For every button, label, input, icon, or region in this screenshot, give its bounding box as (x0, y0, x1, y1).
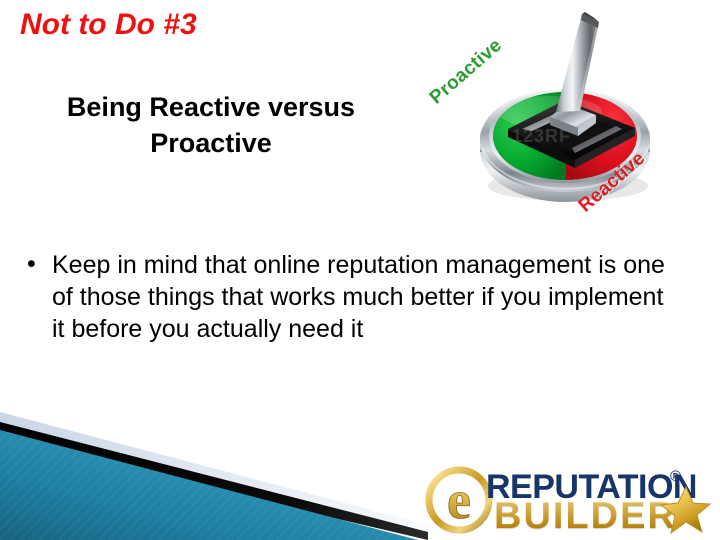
toggle-switch-icon (430, 8, 700, 223)
bullet-text: Keep in mind that online reputation mana… (52, 251, 665, 343)
star-icon (656, 484, 712, 536)
logo-word-builder: BUILDER (494, 495, 677, 538)
slide-subtitle: Being Reactive versus Proactive (26, 90, 396, 162)
slide-title: Not to Do #3 (20, 8, 197, 42)
svg-text:e: e (447, 470, 471, 530)
ereputation-builder-logo: e REPUTATION ® BUILDER (420, 462, 716, 536)
logo-e-icon: e (422, 466, 496, 534)
proactive-reactive-illustration: 123RF Proactive Reactive (430, 8, 700, 223)
logo-registered-mark: ® (670, 468, 681, 485)
bullet-item: • Keep in mind that online reputation ma… (22, 250, 682, 345)
slide-body-bullets: • Keep in mind that online reputation ma… (22, 250, 682, 345)
stock-photo-watermark: 123RF (512, 126, 571, 147)
bullet-marker: • (27, 249, 36, 281)
presentation-slide: Not to Do #3 Being Reactive versus Proac… (0, 0, 720, 540)
